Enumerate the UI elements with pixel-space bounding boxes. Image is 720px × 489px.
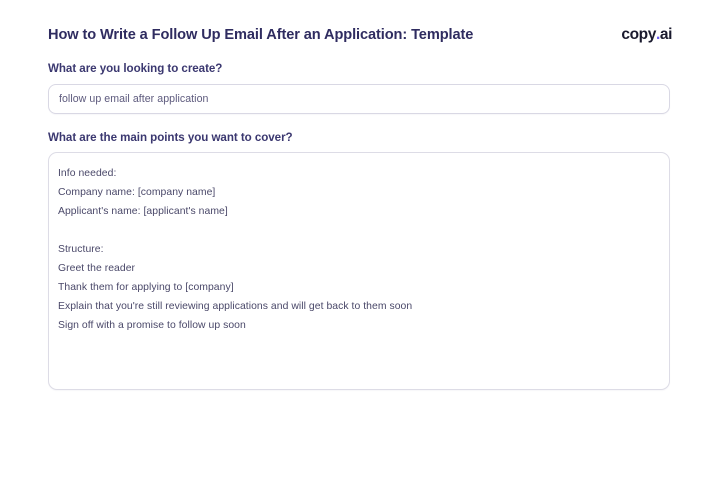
page-header: How to Write a Follow Up Email After an … <box>48 26 672 50</box>
logo-word: copy <box>621 26 656 44</box>
textarea-line: Structure: <box>58 240 659 259</box>
points-field-label: What are the main points you want to cov… <box>48 131 293 144</box>
copy-ai-logo: copy.ai <box>621 26 672 44</box>
create-field-label: What are you looking to create? <box>48 62 222 75</box>
textarea-line: Sign off with a promise to follow up soo… <box>58 316 659 335</box>
create-input-value[interactable]: follow up email after application <box>59 93 208 105</box>
textarea-line-blank <box>58 221 659 240</box>
textarea-line: Applicant's name: [applicant's name] <box>58 202 659 221</box>
textarea-line: Greet the reader <box>58 259 659 278</box>
textarea-line: Thank them for applying to [company] <box>58 278 659 297</box>
points-textarea[interactable]: Info needed: Company name: [company name… <box>48 152 670 390</box>
page-title: How to Write a Follow Up Email After an … <box>48 27 473 43</box>
logo-suffix: ai <box>660 26 672 44</box>
app-page: How to Write a Follow Up Email After an … <box>0 0 720 489</box>
textarea-line: Info needed: <box>58 164 659 183</box>
textarea-line: Company name: [company name] <box>58 183 659 202</box>
create-input[interactable]: follow up email after application <box>48 84 670 114</box>
textarea-line: Explain that you're still reviewing appl… <box>58 297 659 316</box>
